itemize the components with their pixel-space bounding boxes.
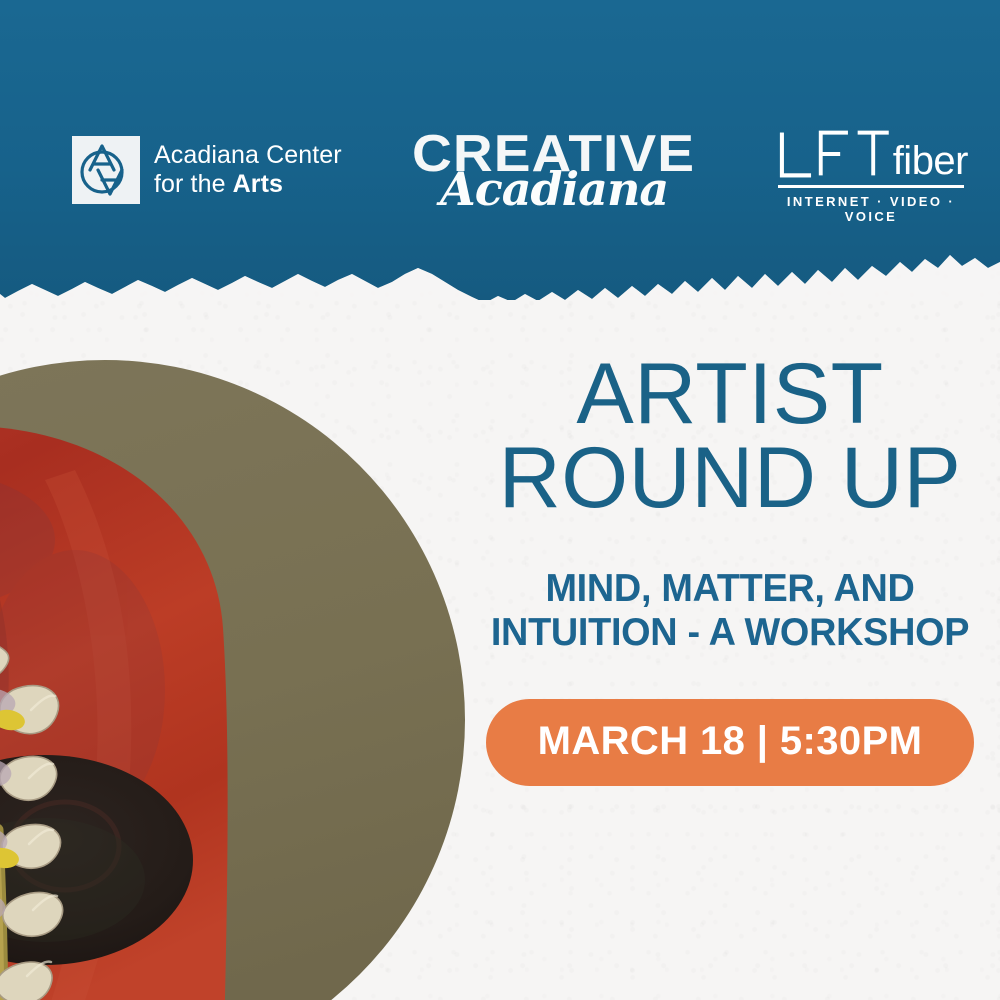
subtitle-line-2: INTUITION - A WORKSHOP (478, 611, 982, 655)
lft-letters-icon (778, 128, 891, 180)
painting-illustration (0, 360, 465, 1000)
acadiana-center-logo[interactable]: Acadiana Center for the Arts (72, 136, 342, 204)
headline-line-1: ARTIST (470, 352, 990, 436)
creative-acadiana-logo[interactable]: CREATIVE Acadiana (412, 128, 682, 218)
event-flyer: Acadiana Center for the Arts CREATIVE Ac… (0, 0, 1000, 1000)
lft-top-row: fiber (778, 128, 968, 180)
acadiana-script-wordmark: Acadiana (440, 162, 668, 216)
artwork-painting (0, 360, 465, 1000)
event-date-badge[interactable]: MARCH 18 | 5:30PM (486, 699, 975, 786)
acadiana-center-wordmark: Acadiana Center for the Arts (154, 141, 342, 199)
page-title: ARTIST ROUND UP (470, 352, 990, 521)
aca-line-2-prefix: for the (154, 170, 233, 198)
headline-line-2: ROUND UP (470, 436, 990, 520)
lft-fiber-logo[interactable]: fiber INTERNET · VIDEO · VOICE (778, 128, 968, 220)
artwork-circle (0, 360, 465, 1000)
aca-monogram-icon (72, 136, 140, 204)
aca-line-2-emphasis: Arts (233, 170, 283, 198)
lft-tagline: INTERNET · VIDEO · VOICE (778, 194, 964, 224)
sponsor-logo-row: Acadiana Center for the Arts CREATIVE Ac… (0, 118, 1000, 228)
lft-divider-rule (778, 185, 964, 188)
aca-line-1: Acadiana Center (154, 141, 342, 170)
event-subtitle: MIND, MATTER, AND INTUITION - A WORKSHOP (478, 567, 982, 656)
event-text-column: ARTIST ROUND UP MIND, MATTER, AND INTUIT… (470, 352, 990, 786)
subtitle-line-1: MIND, MATTER, AND (478, 567, 982, 611)
top-banner: Acadiana Center for the Arts CREATIVE Ac… (0, 0, 1000, 300)
aca-line-2: for the Arts (154, 170, 342, 199)
lft-fiber-word: fiber (893, 143, 968, 180)
